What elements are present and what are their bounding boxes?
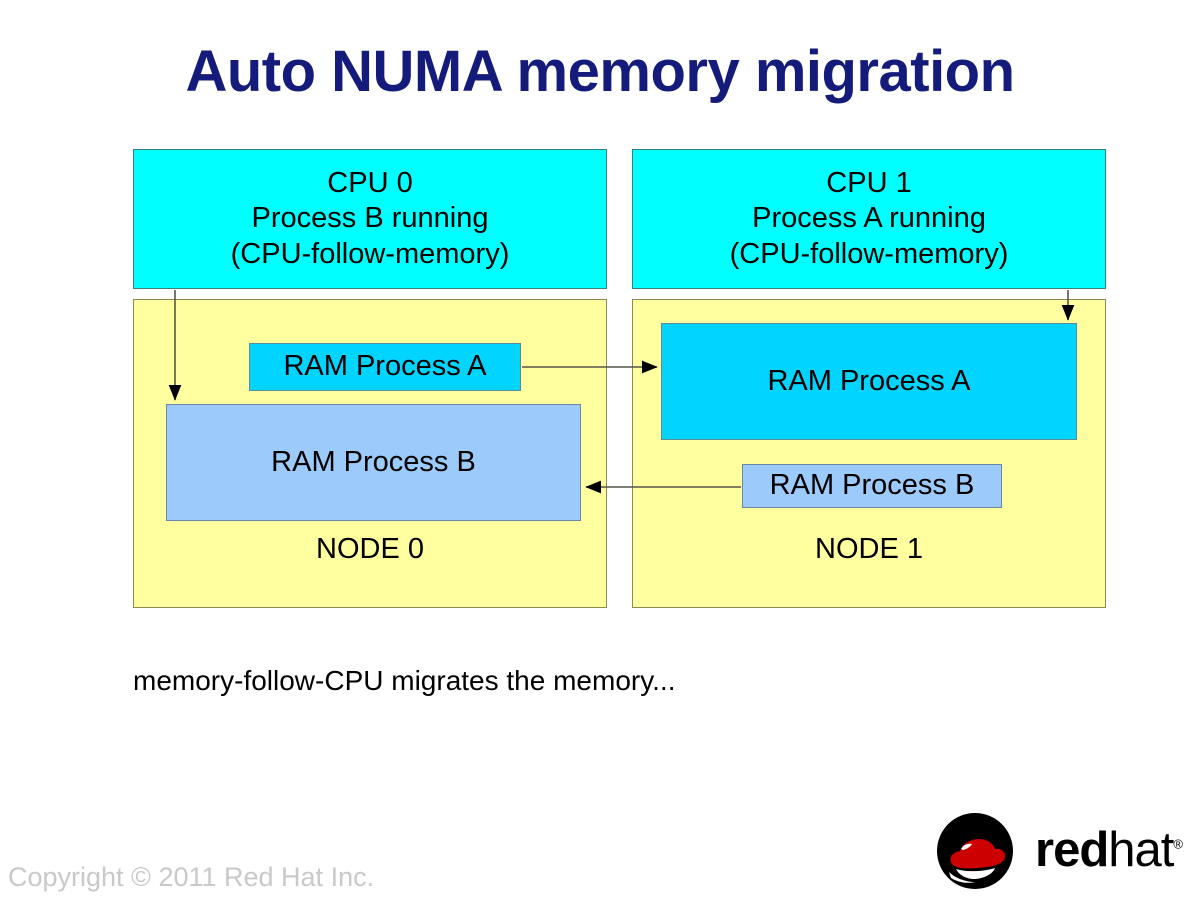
cpu-0-box: CPU 0 Process B running (CPU-follow-memo… [133,149,607,289]
cpu-1-mode: (CPU-follow-memory) [633,237,1105,272]
node-0-ram-process-b: RAM Process B [166,404,581,521]
caption-text: memory-follow-CPU migrates the memory... [133,665,675,697]
cpu-1-name: CPU 1 [633,166,1105,201]
node-1-ram-process-a-label: RAM Process A [767,364,970,399]
node-1-ram-process-b: RAM Process B [742,464,1002,508]
redhat-word-red: red [1035,823,1108,877]
copyright-text: Copyright © 2011 Red Hat Inc. [8,862,374,893]
cpu-1-status: Process A running [633,201,1105,236]
redhat-wordmark: redhat® [1035,826,1182,875]
numa-diagram: CPU 0 Process B running (CPU-follow-memo… [0,0,1200,901]
cpu-0-name: CPU 0 [134,166,606,201]
node-1-ram-process-b-label: RAM Process B [770,468,975,503]
redhat-shadowman-icon [925,812,1030,890]
node-0-ram-process-a: RAM Process A [249,343,521,391]
redhat-logo: redhat® [925,812,1185,892]
node-1-ram-process-a: RAM Process A [661,323,1077,440]
redhat-word-hat: hat [1108,823,1173,877]
node-0-ram-process-a-label: RAM Process A [283,349,486,384]
redhat-trademark: ® [1173,837,1182,852]
node-1-label: NODE 1 [632,533,1106,566]
node-0-label: NODE 0 [133,533,607,566]
cpu-0-status: Process B running [134,201,606,236]
node-0-ram-process-b-label: RAM Process B [271,445,476,480]
cpu-1-box: CPU 1 Process A running (CPU-follow-memo… [632,149,1106,289]
cpu-0-mode: (CPU-follow-memory) [134,237,606,272]
